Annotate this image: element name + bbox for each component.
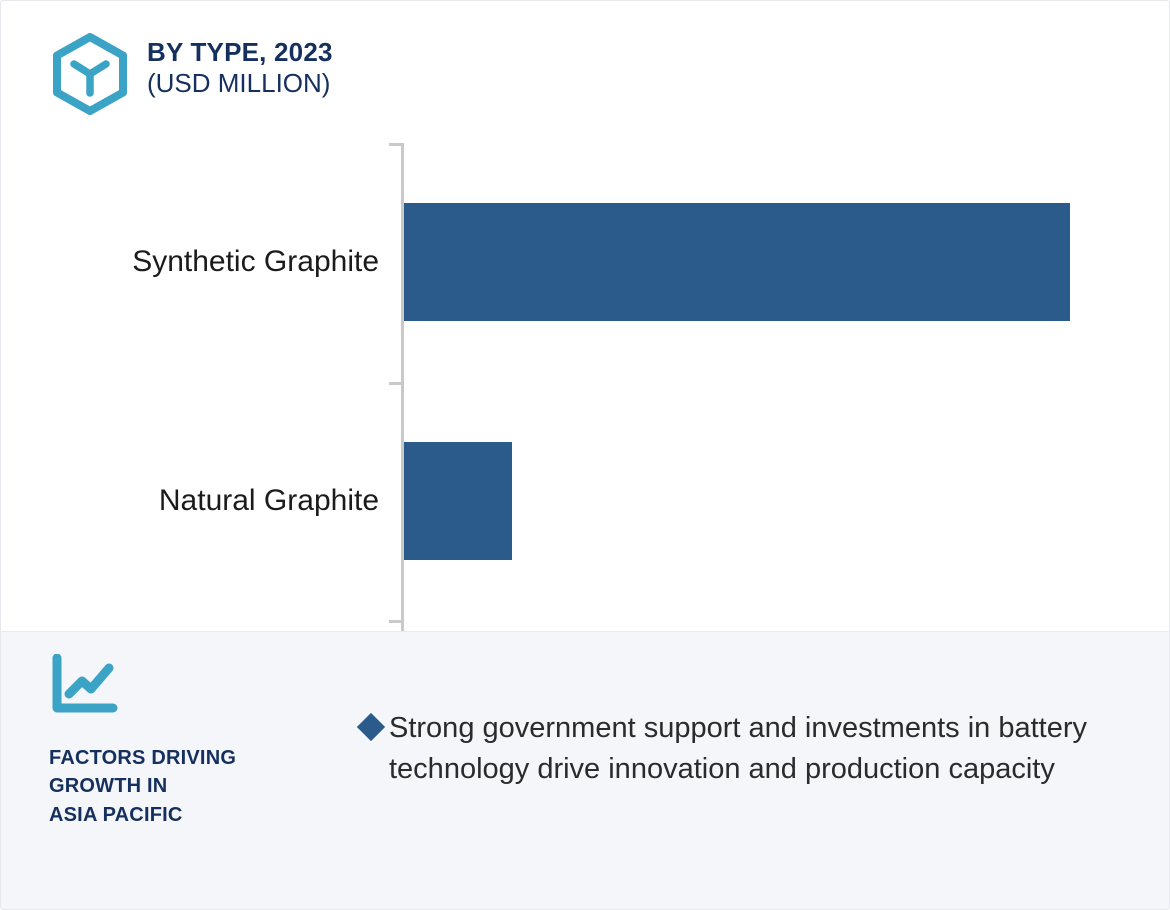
- factors-heading-line-2: GROWTH IN: [49, 772, 349, 800]
- line-chart-trend-icon: [49, 654, 119, 716]
- hexagon-node-icon: [51, 33, 129, 115]
- page-title: BY TYPE, 2023: [147, 37, 333, 68]
- factors-bullet-list: Strong government support and investment…: [361, 708, 1131, 790]
- bar-chart: Synthetic Graphite Natural Graphite: [1, 131, 1170, 631]
- y-axis-tick-middle: [389, 382, 403, 385]
- category-label-synthetic-graphite: Synthetic Graphite: [132, 245, 379, 279]
- factors-heading: FACTORS DRIVING GROWTH IN ASIA PACIFIC: [49, 744, 349, 829]
- bar-synthetic-graphite: [404, 203, 1070, 321]
- factors-panel: FACTORS DRIVING GROWTH IN ASIA PACIFIC S…: [1, 631, 1170, 910]
- header-text-block: BY TYPE, 2023 (USD MILLION): [147, 31, 333, 98]
- factors-heading-line-3: ASIA PACIFIC: [49, 801, 349, 829]
- page-subtitle: (USD MILLION): [147, 68, 333, 99]
- diamond-bullet-icon: [357, 713, 385, 741]
- factor-bullet-text: Strong government support and investment…: [389, 708, 1109, 790]
- factors-heading-line-1: FACTORS DRIVING: [49, 744, 349, 772]
- card-header: BY TYPE, 2023 (USD MILLION): [51, 31, 333, 115]
- bar-natural-graphite: [404, 442, 512, 560]
- factors-panel-left: FACTORS DRIVING GROWTH IN ASIA PACIFIC: [49, 654, 349, 829]
- chart-card: BY TYPE, 2023 (USD MILLION) Synthetic Gr…: [0, 0, 1170, 910]
- y-axis-tick-bottom: [389, 620, 403, 623]
- category-label-natural-graphite: Natural Graphite: [159, 484, 379, 518]
- y-axis-tick-top: [389, 143, 403, 146]
